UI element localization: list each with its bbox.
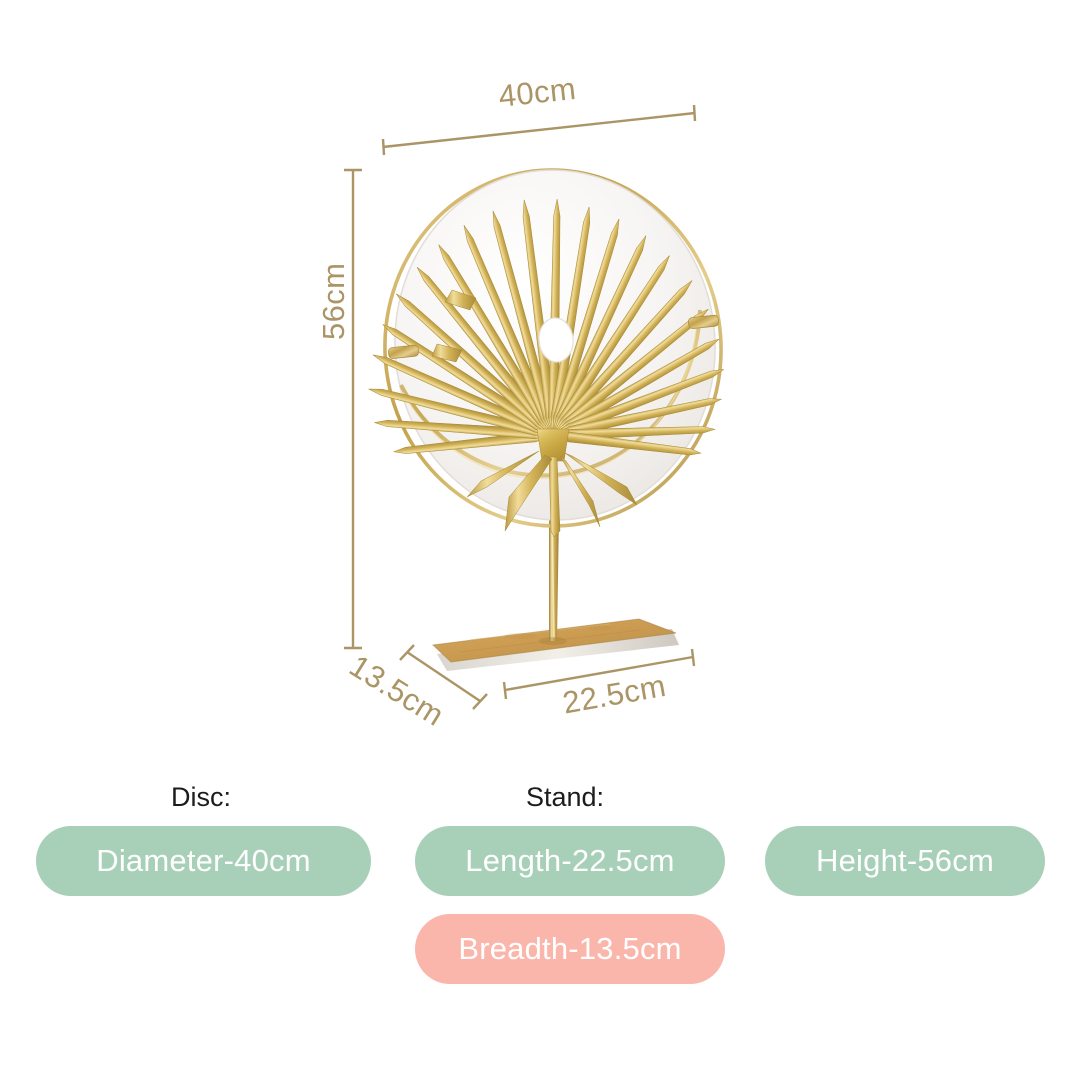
product-illustration <box>0 0 1080 760</box>
dimension-line-width <box>383 105 695 155</box>
spec-pill-height[interactable]: Height-56cm <box>765 826 1045 896</box>
group-heading-disc: Disc: <box>171 782 231 813</box>
spec-pill-diameter[interactable]: Diameter-40cm <box>36 826 371 896</box>
spec-pill-breadth[interactable]: Breadth-13.5cm <box>415 914 725 984</box>
spec-legend: Disc: Stand: Diameter-40cm Length-22.5cm… <box>0 760 1080 1080</box>
product-figure: 40cm 56cm 13.5cm 22.5cm <box>0 0 1080 760</box>
dimension-line-height <box>344 170 362 648</box>
dimension-label-height: 56cm <box>316 263 352 340</box>
spec-pill-length[interactable]: Length-22.5cm <box>415 826 725 896</box>
dimension-infographic: 40cm 56cm 13.5cm 22.5cm Disc: Stand: Dia… <box>0 0 1080 1080</box>
group-heading-stand: Stand: <box>526 782 604 813</box>
